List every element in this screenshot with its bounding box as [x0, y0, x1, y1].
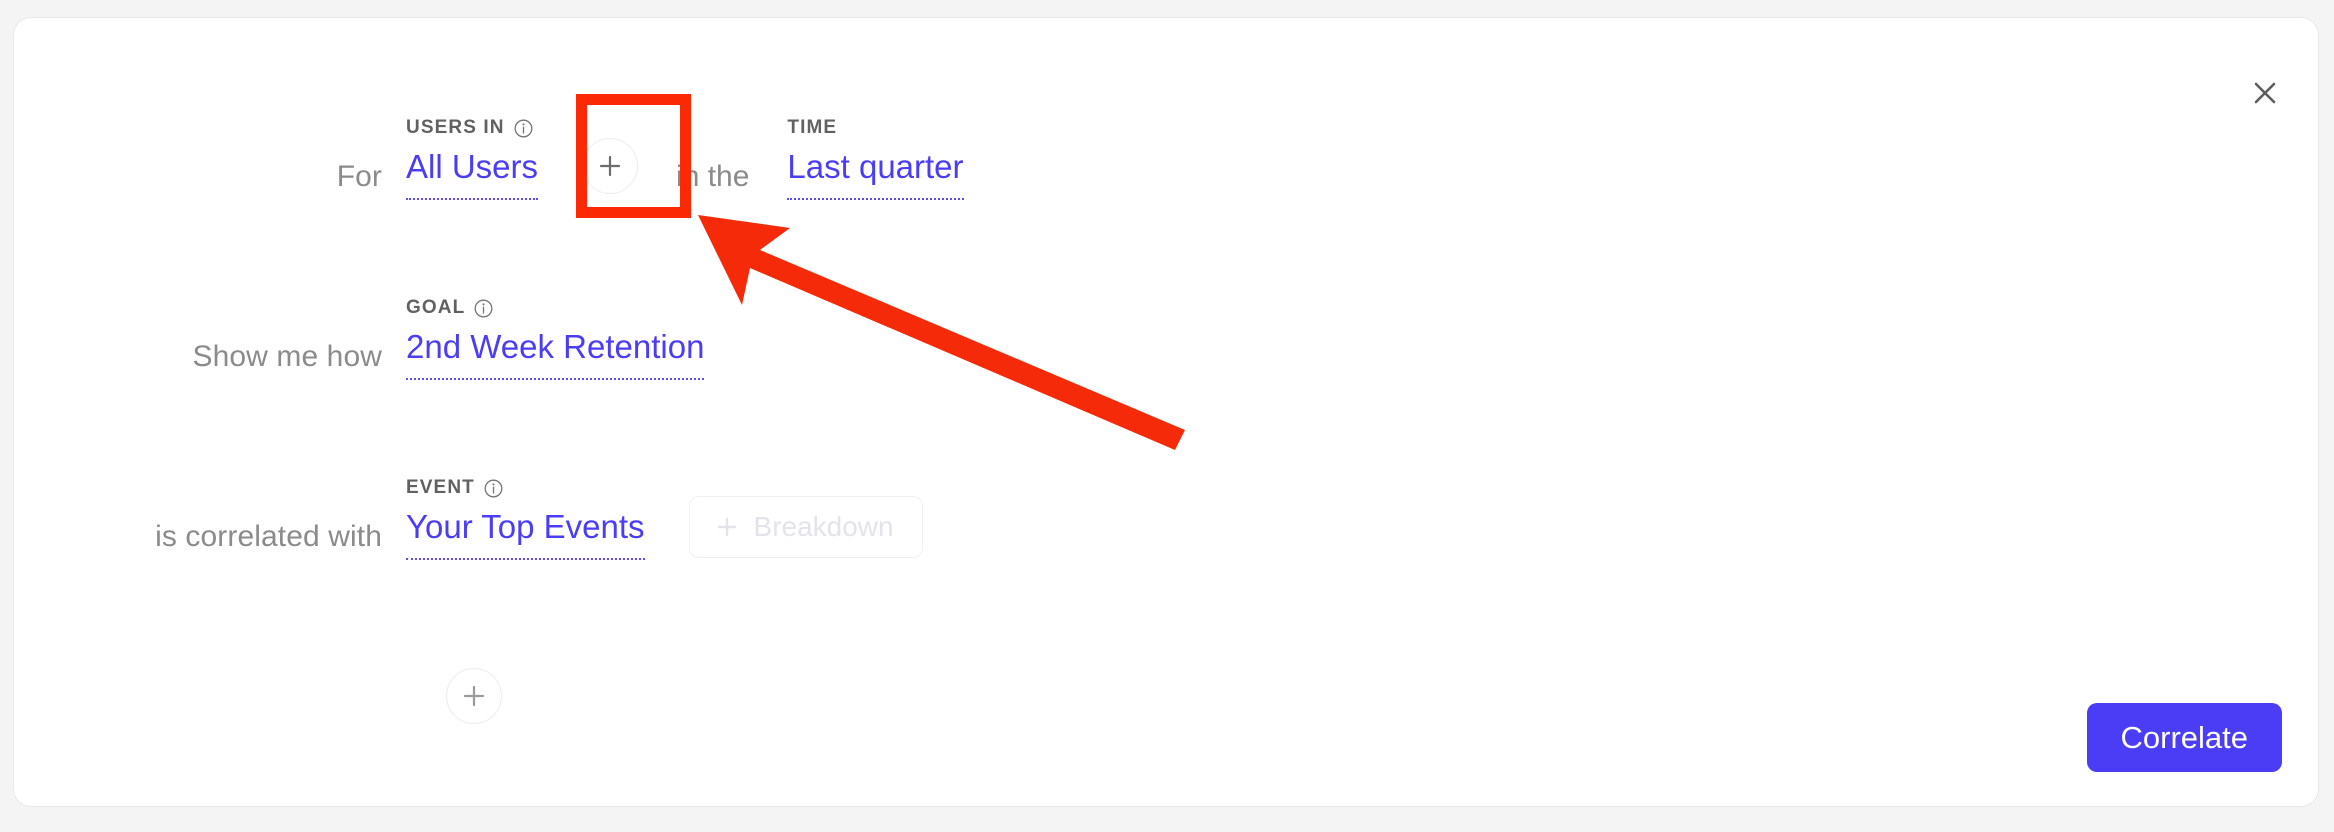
field-users-in: USERS IN All Users — [406, 117, 538, 212]
field-label-text: USERS IN — [406, 117, 505, 139]
plus-icon — [597, 153, 623, 179]
field-label-users-in: USERS IN — [406, 117, 538, 139]
field-value-event[interactable]: Your Top Events — [406, 509, 645, 560]
query-row-event: is correlated with EVENT Your Top Events — [14, 456, 2318, 572]
add-query-row-button[interactable] — [446, 668, 502, 724]
row-lead-text: Show me how — [14, 342, 406, 392]
query-rows: For USERS IN All Users — [14, 96, 2318, 572]
query-row-users: For USERS IN All Users — [14, 96, 2318, 212]
breakdown-label: Breakdown — [754, 511, 894, 543]
query-row-goal: Show me how GOAL 2nd Week Retention — [14, 276, 2318, 392]
row-lead-text: is correlated with — [14, 522, 406, 572]
correlate-button[interactable]: Correlate — [2087, 703, 2283, 772]
info-icon[interactable] — [514, 119, 533, 138]
field-label-text: EVENT — [406, 477, 475, 499]
row-lead-text: For — [14, 162, 406, 212]
field-label-goal: GOAL — [406, 297, 704, 319]
field-label-time: TIME — [787, 117, 963, 139]
field-time: TIME Last quarter — [787, 117, 963, 212]
field-event: EVENT Your Top Events — [406, 477, 645, 572]
row-mid-text: in the — [676, 162, 749, 212]
plus-icon — [461, 683, 487, 709]
field-label-text: GOAL — [406, 297, 465, 319]
add-users-cohort-plus-button[interactable] — [582, 138, 638, 194]
add-breakdown-button[interactable]: Breakdown — [689, 496, 923, 558]
field-value-goal[interactable]: 2nd Week Retention — [406, 329, 704, 380]
field-goal: GOAL 2nd Week Retention — [406, 297, 704, 392]
field-label-event: EVENT — [406, 477, 645, 499]
field-label-text: TIME — [787, 117, 837, 139]
field-value-users-in[interactable]: All Users — [406, 149, 538, 200]
plus-icon — [714, 514, 740, 540]
info-icon[interactable] — [474, 299, 493, 318]
field-value-time[interactable]: Last quarter — [787, 149, 963, 200]
correlation-builder-card: For USERS IN All Users — [13, 17, 2319, 807]
info-icon[interactable] — [484, 479, 503, 498]
